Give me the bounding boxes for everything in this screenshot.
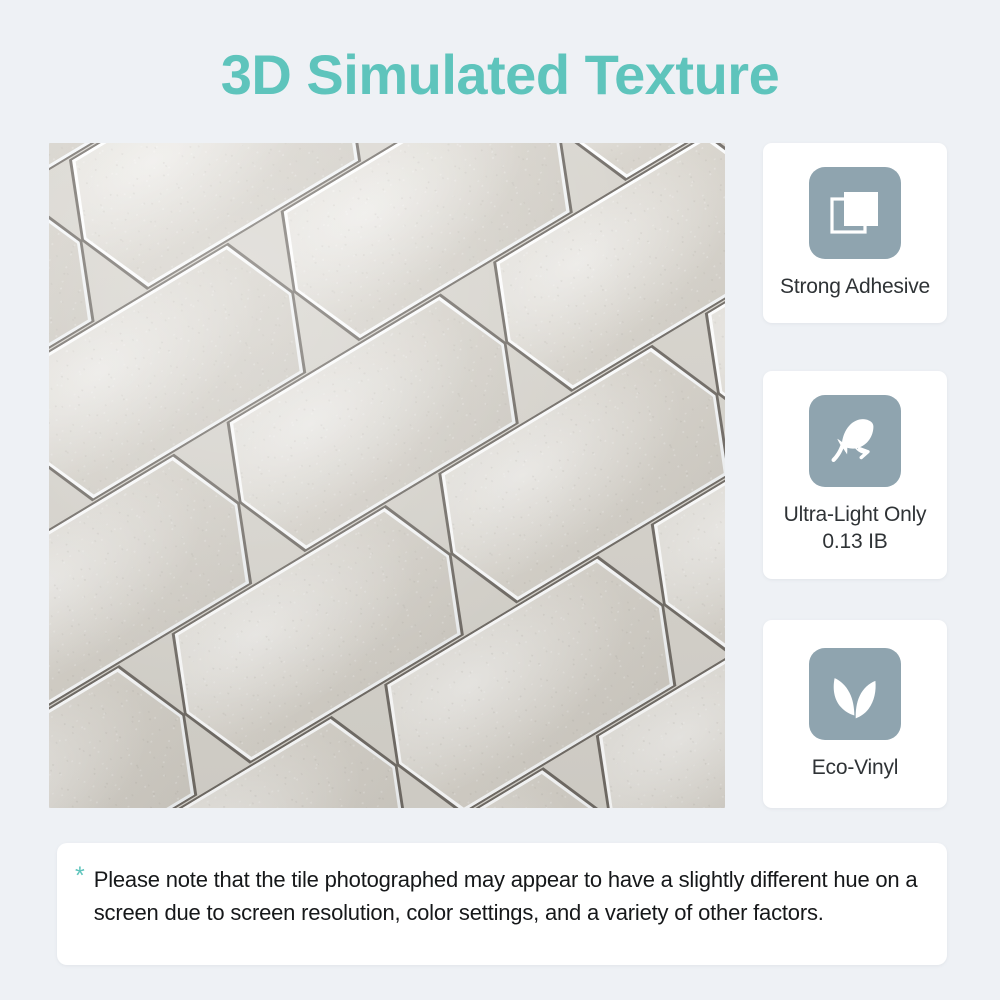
feature-label: Eco-Vinyl: [808, 754, 903, 781]
feature-card-ultra-light[interactable]: Ultra-Light Only 0.13 IB: [763, 371, 947, 579]
note-text: Please note that the tile photographed m…: [94, 863, 923, 929]
note-asterisk-icon: *: [75, 863, 85, 889]
feature-icon-tile: [809, 395, 901, 487]
disclaimer-note-card: * Please note that the tile photographed…: [57, 843, 947, 965]
tile-photo: [49, 143, 725, 808]
layers-squares-icon: [827, 185, 883, 241]
feature-icon-tile: [809, 648, 901, 740]
feature-icon-tile: [809, 167, 901, 259]
feature-label: Ultra-Light Only 0.13 IB: [780, 501, 931, 555]
feather-icon: [826, 412, 884, 470]
leaves-icon: [826, 665, 884, 723]
feature-card-eco-vinyl[interactable]: Eco-Vinyl: [763, 620, 947, 808]
page-title: 3D Simulated Texture: [0, 40, 1000, 110]
feature-card-strong-adhesive[interactable]: Strong Adhesive: [763, 143, 947, 323]
tile-pattern: [49, 143, 725, 808]
feature-label: Strong Adhesive: [776, 273, 934, 300]
